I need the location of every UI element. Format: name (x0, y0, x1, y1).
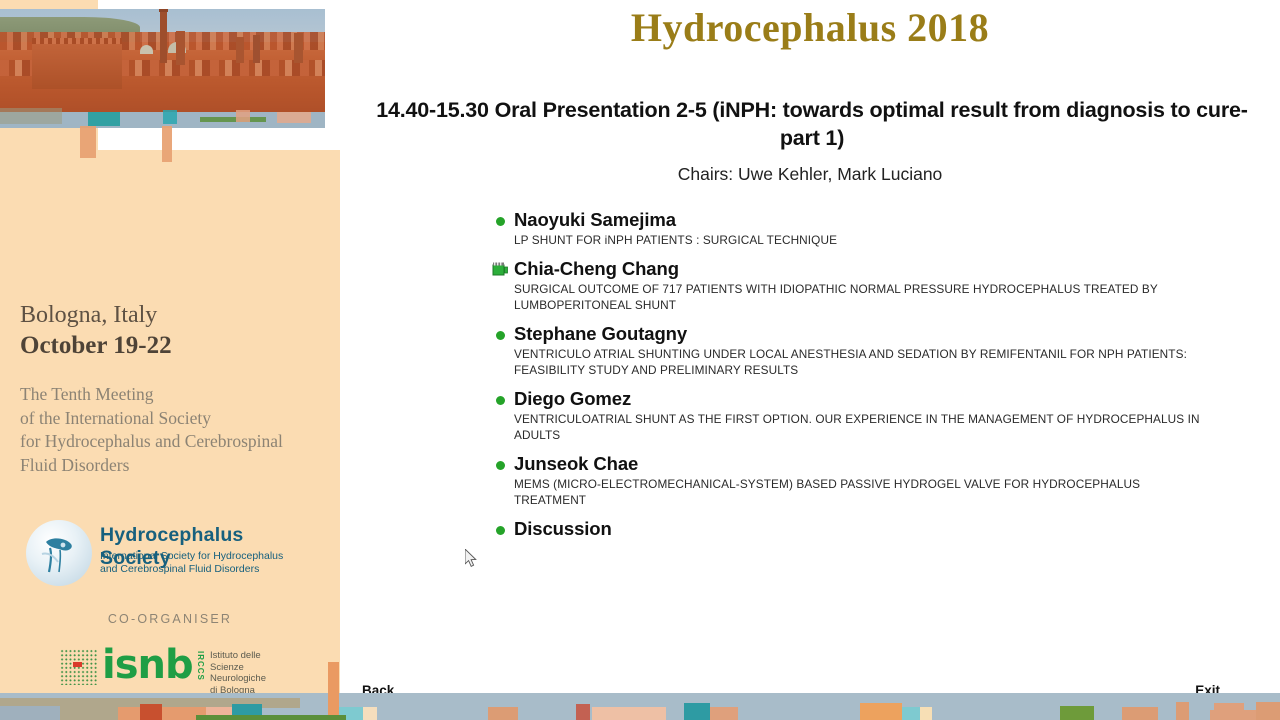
mosaic-block (0, 108, 62, 124)
strip-block (576, 704, 590, 720)
green-bullet-icon (496, 396, 505, 405)
strip-block (488, 707, 518, 720)
mosaic-block (163, 110, 177, 124)
strip-block (902, 707, 920, 720)
conference-location-block: Bologna, Italy October 19-22 (20, 300, 320, 361)
list-item[interactable]: Naoyuki Samejima LP SHUNT FOR iNPH PATIE… (492, 208, 1200, 249)
conference-dates: October 19-22 (20, 330, 320, 361)
strip-block (860, 703, 902, 720)
isnb-logo: isnb IRCCS Istituto delle Scienze Neurol… (60, 645, 290, 689)
talk-speaker[interactable]: Naoyuki Samejima (514, 208, 1200, 231)
isnb-red-accent (73, 662, 82, 667)
strip-block (684, 703, 710, 720)
strip-block (710, 707, 738, 720)
talk-subtitle: VENTRICULO ATRIAL SHUNTING UNDER LOCAL A… (514, 346, 1200, 379)
strip-block (196, 715, 346, 720)
mosaic-block (236, 110, 250, 122)
green-bullet-icon (496, 331, 505, 340)
decorative-bottom-strip (0, 693, 1280, 720)
talk-list: Naoyuki Samejima LP SHUNT FOR iNPH PATIE… (492, 208, 1200, 548)
strip-block (1060, 706, 1094, 720)
mosaic-block (277, 112, 311, 123)
talk-speaker[interactable]: Junseok Chae (514, 452, 1200, 475)
society-mark-glyph (38, 532, 80, 574)
list-item[interactable]: Diego Gomez VENTRICULOATRIAL SHUNT AS TH… (492, 387, 1200, 444)
talk-speaker[interactable]: Discussion (514, 517, 1200, 540)
session-chairs: Chairs: Uwe Kehler, Mark Luciano (340, 164, 1280, 185)
green-bullet-icon (496, 217, 505, 226)
hydrocephalus-society-logo: Hydrocephalus Society International Soci… (26, 520, 316, 586)
strip-block (140, 704, 162, 720)
society-tagline-line1: International Society for Hydrocephalus (100, 550, 283, 563)
strip-block (0, 706, 60, 720)
isnb-dot-grid-icon (60, 649, 98, 685)
slide-content: Hydrocephalus 2018 14.40-15.30 Oral Pres… (340, 0, 1280, 720)
list-item[interactable]: Discussion (492, 517, 1200, 540)
talk-speaker[interactable]: Chia-Cheng Chang (514, 257, 1200, 280)
isnb-wordmark: isnb (102, 643, 193, 687)
isnb-text-line2: Scienze Neurologiche (210, 662, 290, 685)
conference-description: The Tenth Meeting of the International S… (20, 383, 325, 477)
society-tagline-line2: and Cerebrospinal Fluid Disorders (100, 563, 283, 576)
description-line: The Tenth Meeting (20, 383, 325, 407)
green-bullet-icon (496, 461, 505, 470)
strip-block (592, 707, 666, 720)
mouse-cursor (465, 549, 479, 569)
society-tagline: International Society for Hydrocephalus … (100, 550, 283, 576)
talk-speaker[interactable]: Diego Gomez (514, 387, 1200, 410)
description-line: for Hydrocephalus and Cerebrospinal (20, 430, 325, 454)
isnb-text-line1: Istituto delle (210, 650, 290, 662)
isnb-irccs-label: IRCCS (196, 651, 205, 681)
talk-subtitle: VENTRICULOATRIAL SHUNT AS THE FIRST OPTI… (514, 411, 1200, 444)
talk-speaker[interactable]: Stephane Goutagny (514, 322, 1200, 345)
mosaic-block (80, 126, 96, 158)
strip-block (363, 707, 377, 720)
strip-block (1214, 703, 1244, 720)
green-bullet-icon (496, 526, 505, 535)
talk-subtitle: SURGICAL OUTCOME OF 717 PATIENTS WITH ID… (514, 281, 1200, 314)
conference-city: Bologna, Italy (20, 300, 320, 330)
strip-block (920, 707, 932, 720)
session-title: 14.40-15.30 Oral Presentation 2-5 (iNPH:… (362, 96, 1262, 152)
list-item[interactable]: Junseok Chae MEMS (MICRO-ELECTROMECHANIC… (492, 452, 1200, 509)
strip-block (1256, 702, 1280, 720)
mosaic-block (88, 112, 120, 126)
list-item[interactable]: Chia-Cheng Chang SURGICAL OUTCOME OF 717… (492, 257, 1200, 314)
description-line: Fluid Disorders (20, 454, 325, 478)
society-emblem-icon (26, 520, 92, 586)
page-title: Hydrocephalus 2018 (340, 4, 1280, 51)
talk-subtitle: LP SHUNT FOR iNPH PATIENTS : SURGICAL TE… (514, 232, 1200, 249)
mosaic-block (162, 126, 172, 162)
isnb-institute-text: Istituto delle Scienze Neurologiche di B… (210, 650, 290, 696)
strip-block (1176, 702, 1189, 720)
mosaic-block (200, 117, 266, 122)
strip-block (1122, 707, 1158, 720)
talk-subtitle: MEMS (MICRO-ELECTROMECHANICAL-SYSTEM) BA… (514, 476, 1200, 509)
conference-sidebar: Bologna, Italy October 19-22 The Tenth M… (0, 0, 340, 693)
slide-viewer: Bologna, Italy October 19-22 The Tenth M… (0, 0, 1280, 720)
co-organiser-label: CO-ORGANISER (0, 612, 340, 626)
video-icon[interactable] (492, 261, 508, 276)
description-line: of the International Society (20, 407, 325, 431)
list-item[interactable]: Stephane Goutagny VENTRICULO ATRIAL SHUN… (492, 322, 1200, 379)
